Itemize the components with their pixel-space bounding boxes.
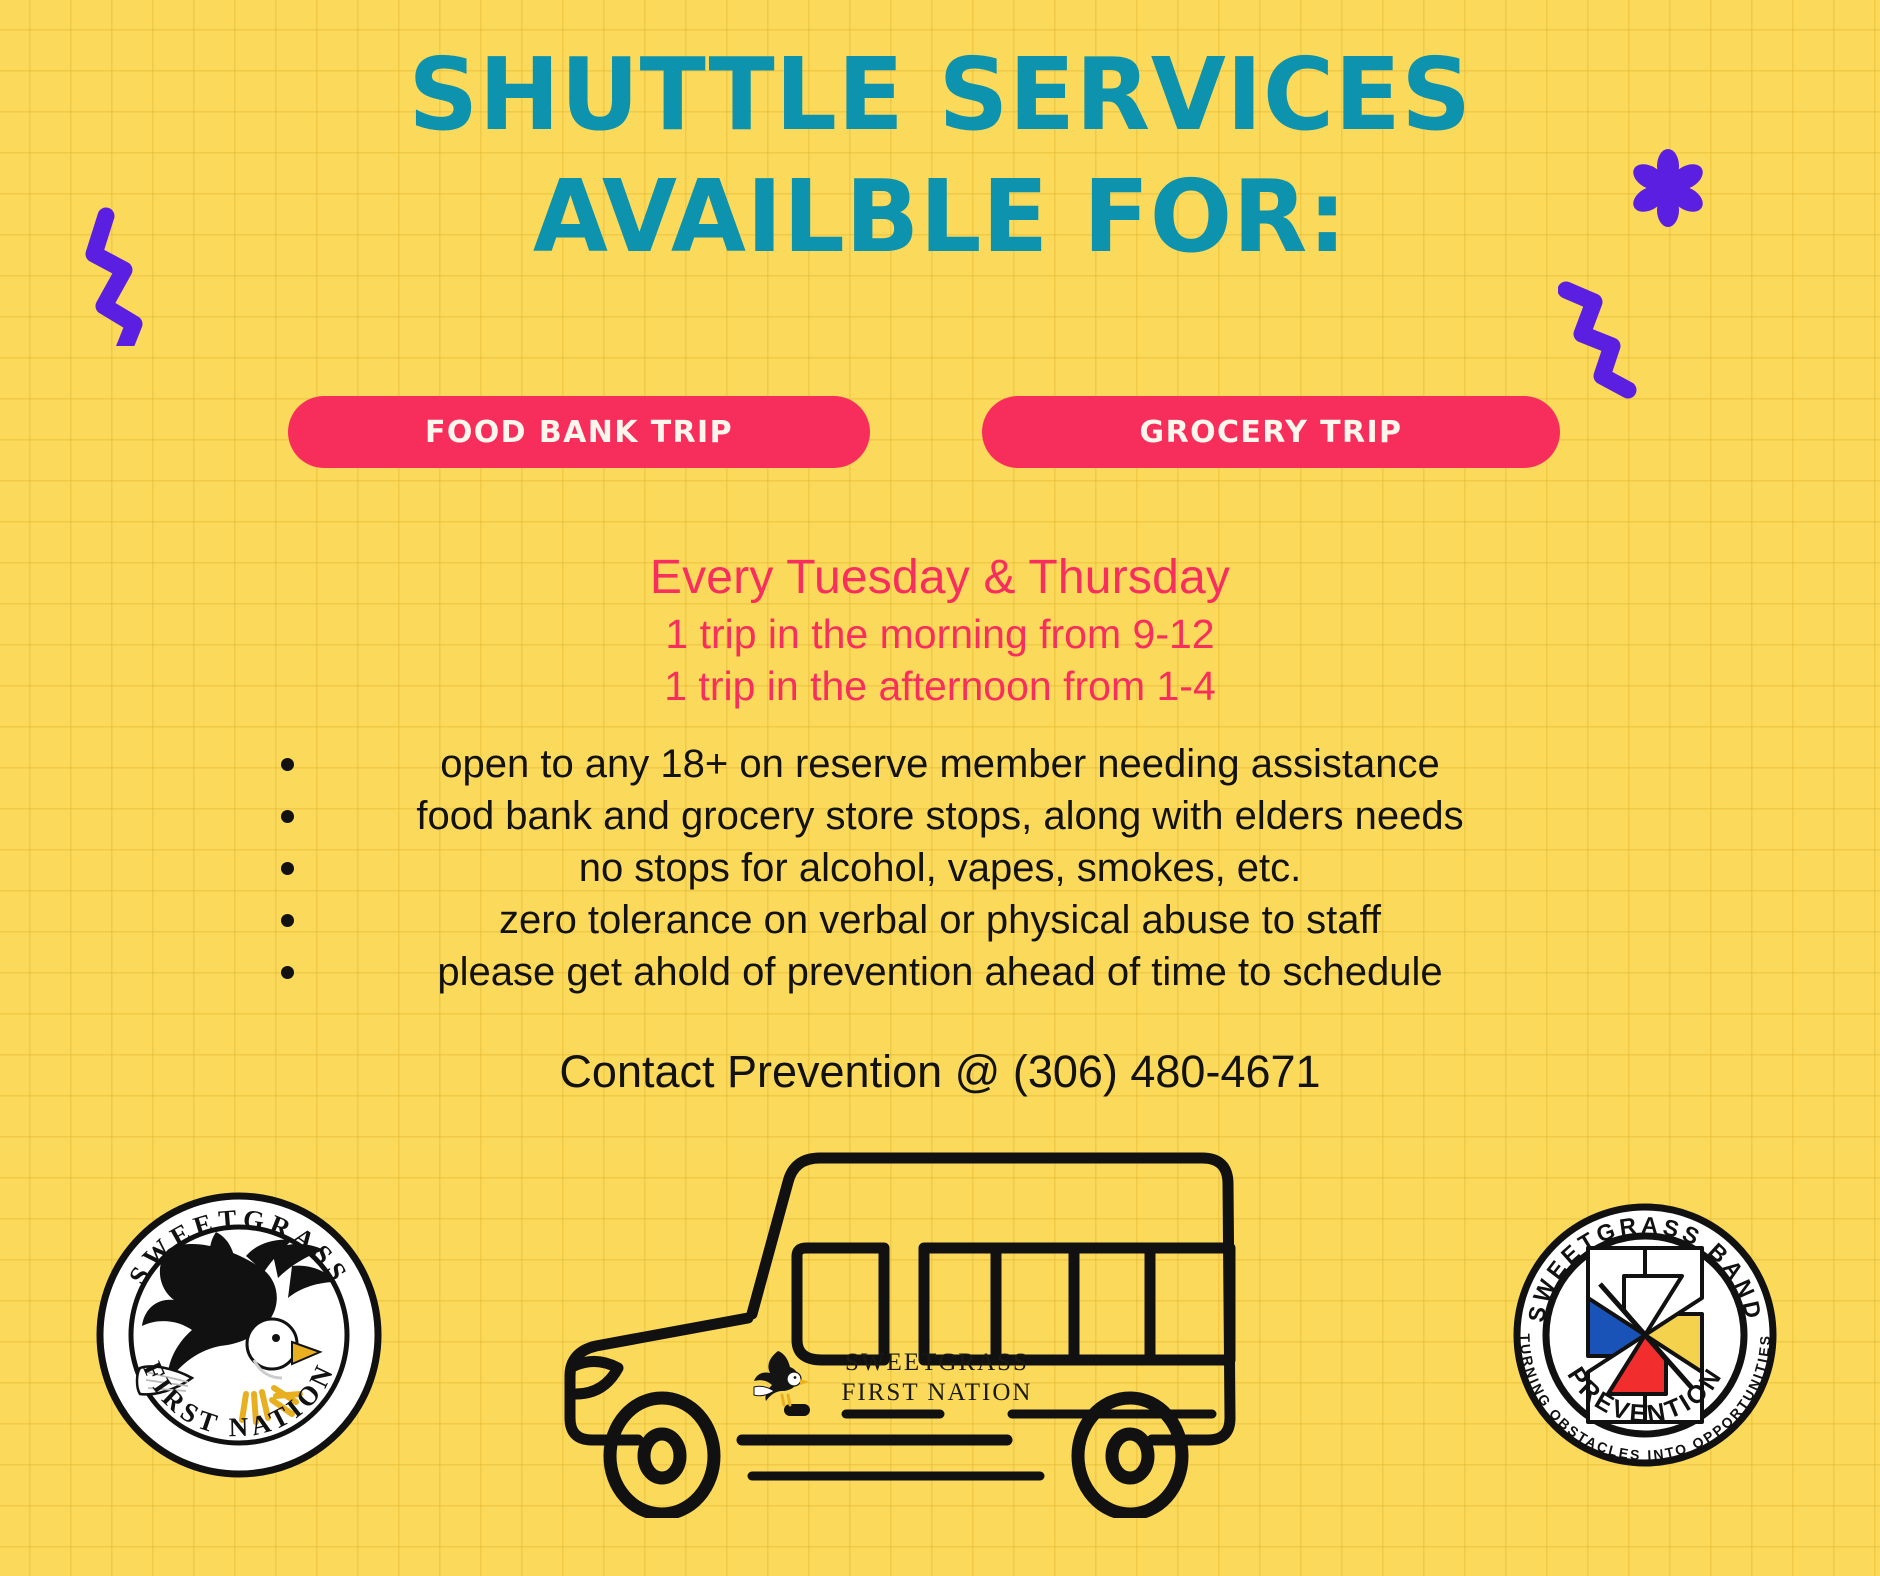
list-item: open to any 18+ on reserve member needin… (0, 738, 1880, 790)
list-item-label: please get ahold of prevention ahead of … (397, 946, 1482, 998)
schedule-morning: 1 trip in the morning from 9-12 (0, 608, 1880, 660)
bullet-dot-icon (281, 810, 294, 823)
sweetgrass-first-nation-logo: SWEETGRASS FIRST NATION (96, 1192, 382, 1478)
bullet-dot-icon (281, 862, 294, 875)
squiggle-right-icon (1558, 268, 1638, 413)
list-item-label: open to any 18+ on reserve member needin… (400, 738, 1480, 790)
van-decal-eagle-icon (752, 1345, 812, 1416)
page-title: SHUTTLE SERVICES AVAILBLE FOR: (0, 34, 1880, 278)
schedule-heading: Every Tuesday & Thursday (0, 548, 1880, 608)
trip-type-pills: FOOD BANK TRIP GROCERY TRIP (0, 396, 1880, 468)
sweetgrass-band-prevention-logo: SWEETGRASS BAND PREVENTION TURNING OBSTA… (1496, 1186, 1794, 1484)
list-item-label: zero tolerance on verbal or physical abu… (459, 894, 1421, 946)
list-item-label: food bank and grocery store stops, along… (376, 790, 1503, 842)
pill-grocery-trip-label: GROCERY TRIP (1140, 415, 1403, 450)
squiggle-left-icon (78, 206, 148, 351)
contact-line: Contact Prevention @ (306) 480-4671 (0, 1043, 1880, 1101)
shuttle-van-icon (552, 1118, 1252, 1518)
contact-text: Contact Prevention @ (306) 480-4671 (559, 1046, 1320, 1097)
asterisk-flower-icon (1628, 148, 1708, 233)
list-item: no stops for alcohol, vapes, smokes, etc… (0, 842, 1880, 894)
title-line-2: AVAILBLE FOR: (28, 156, 1852, 278)
pill-grocery-trip[interactable]: GROCERY TRIP (982, 396, 1560, 468)
schedule-afternoon: 1 trip in the afternoon from 1-4 (0, 660, 1880, 712)
list-item: please get ahold of prevention ahead of … (0, 946, 1880, 998)
pill-food-bank-trip[interactable]: FOOD BANK TRIP (288, 396, 870, 468)
title-line-1: SHUTTLE SERVICES (28, 34, 1852, 156)
list-item-label: no stops for alcohol, vapes, smokes, etc… (539, 842, 1342, 894)
schedule-block: Every Tuesday & Thursday 1 trip in the m… (0, 548, 1880, 712)
bullet-dot-icon (281, 966, 294, 979)
rules-list: open to any 18+ on reserve member needin… (0, 738, 1880, 998)
bullet-dot-icon (281, 914, 294, 927)
pill-food-bank-trip-label: FOOD BANK TRIP (425, 415, 733, 450)
list-item: zero tolerance on verbal or physical abu… (0, 894, 1880, 946)
shuttle-services-poster: SHUTTLE SERVICES AVAILBLE FOR: (0, 0, 1880, 1576)
list-item: food bank and grocery store stops, along… (0, 790, 1880, 842)
bullet-dot-icon (281, 758, 294, 771)
